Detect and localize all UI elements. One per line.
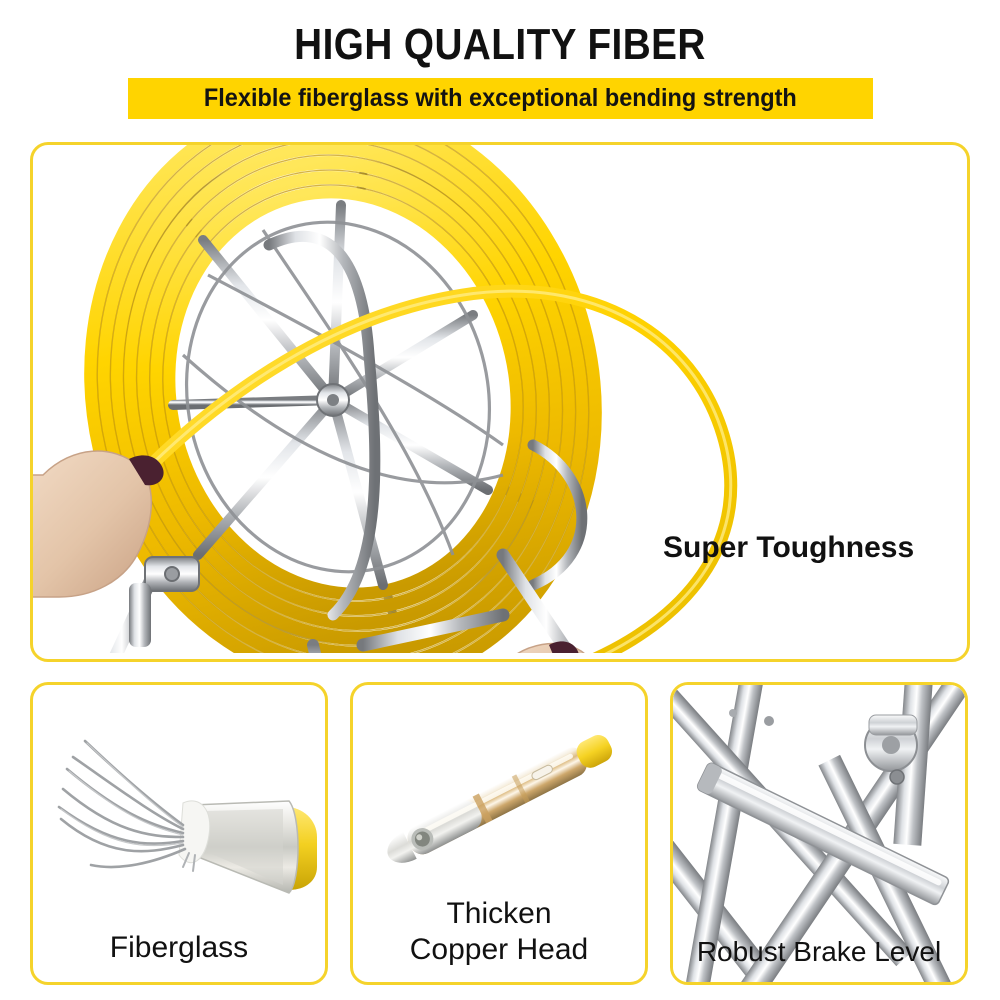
hero-panel: Super Toughness [30, 142, 970, 662]
subtitle-banner: Flexible fiberglass with exceptional ben… [128, 78, 873, 119]
feature-panel-copper-head: Thicken Copper Head [350, 682, 648, 985]
hero-image [33, 145, 961, 653]
duct-rodder-illustration [33, 145, 961, 653]
feature-label-brake-level: Robust Brake Level [673, 934, 965, 970]
feature-label-line-1: Thicken [353, 896, 645, 932]
hand-bottom [487, 641, 595, 653]
feature-label-fiberglass: Fiberglass [33, 930, 325, 966]
infographic-root: HIGH QUALITY FIBER Flexible fiberglass w… [0, 0, 1000, 1000]
page-title: HIGH QUALITY FIBER [60, 20, 940, 70]
feature-label-copper-head: Thicken Copper Head [353, 896, 645, 968]
feature-panel-brake-level: Robust Brake Level [670, 682, 968, 985]
hand-left [33, 451, 164, 597]
feature-label-line-2: Copper Head [353, 932, 645, 968]
subtitle-text: Flexible fiberglass with exceptional ben… [204, 84, 797, 113]
hero-label: Super Toughness [663, 531, 970, 565]
feature-panel-fiberglass: Fiberglass [30, 682, 328, 985]
